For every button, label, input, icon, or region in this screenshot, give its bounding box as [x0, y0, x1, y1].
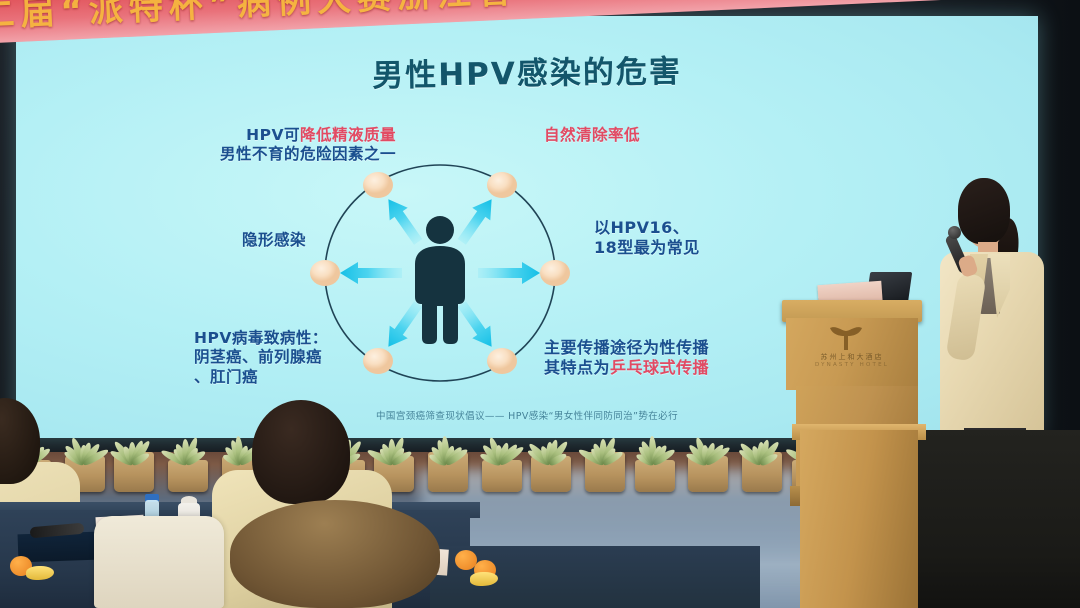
callout-text: 阴茎癌、前列腺癌	[194, 348, 322, 366]
plant-leaves	[626, 430, 684, 464]
potted-plant	[635, 460, 675, 492]
podium-name-cn: 苏州上和大酒店	[794, 352, 910, 362]
plant-leaves	[419, 430, 477, 464]
callout-text: 、肛门癌	[194, 368, 258, 386]
microphone-head	[948, 226, 961, 239]
potted-plant	[742, 452, 782, 492]
plant-leaves	[522, 430, 580, 464]
callout-text: 其特点为	[544, 358, 610, 377]
audience-head-foreground	[230, 500, 440, 608]
callout-bottom-right: 主要传播途径为性传播 其特点为乒乓球式传播	[544, 338, 794, 378]
callout-left: 隐形感染	[156, 231, 306, 250]
callout-text: 主要传播途径为性传播	[544, 338, 709, 357]
notepad	[18, 532, 99, 563]
callout-right: 以HPV16、 18型最为常见	[594, 218, 824, 258]
potted-plant	[168, 460, 208, 492]
side-wall-dark	[918, 430, 1080, 608]
wooden-pillar	[800, 430, 918, 608]
callout-text-highlight: 乒乓球式传播	[610, 358, 709, 377]
presenter-hair	[958, 178, 1010, 244]
callout-text: HPV可	[246, 126, 300, 144]
chair-back	[94, 516, 224, 608]
callout-text-highlight: 降低精液质量	[300, 126, 396, 144]
potted-plant	[482, 460, 522, 492]
callout-text: HPV病毒致病性：	[194, 329, 328, 347]
podium-name-en: DYNASTY HOTEL	[794, 362, 910, 368]
potted-plant	[531, 456, 571, 492]
potted-plant	[585, 452, 625, 492]
audience-head-center	[252, 400, 350, 504]
plant-leaves	[105, 430, 163, 464]
potted-plant	[688, 456, 728, 492]
callout-top-right: 自然清除率低	[544, 126, 774, 145]
conference-hall-scene: 男性HPV感染的危害	[0, 0, 1080, 608]
callout-bottom-left: HPV病毒致病性： 阴茎癌、前列腺癌 、肛门癌	[194, 329, 424, 387]
callout-top-left: HPV可降低精液质量 男性不育的危险因素之一	[166, 126, 396, 165]
plant-leaves	[365, 430, 423, 464]
slide-title: 男性HPV感染的危害	[16, 41, 1038, 100]
plant-leaves	[679, 430, 737, 464]
callout-text: 18型最为常见	[594, 238, 700, 257]
callout-text-highlight: 自然清除率低	[544, 126, 640, 144]
male-person-icon	[415, 216, 465, 344]
potted-plant	[428, 452, 468, 492]
plant-leaves	[159, 430, 217, 464]
potted-plant	[114, 452, 154, 492]
callout-text: 隐形感染	[242, 231, 306, 249]
callout-text: 男性不育的危险因素之一	[220, 145, 396, 163]
presenter	[930, 178, 1050, 448]
hotel-bull-logo	[826, 324, 866, 352]
callout-text: 以HPV16、	[594, 218, 689, 237]
